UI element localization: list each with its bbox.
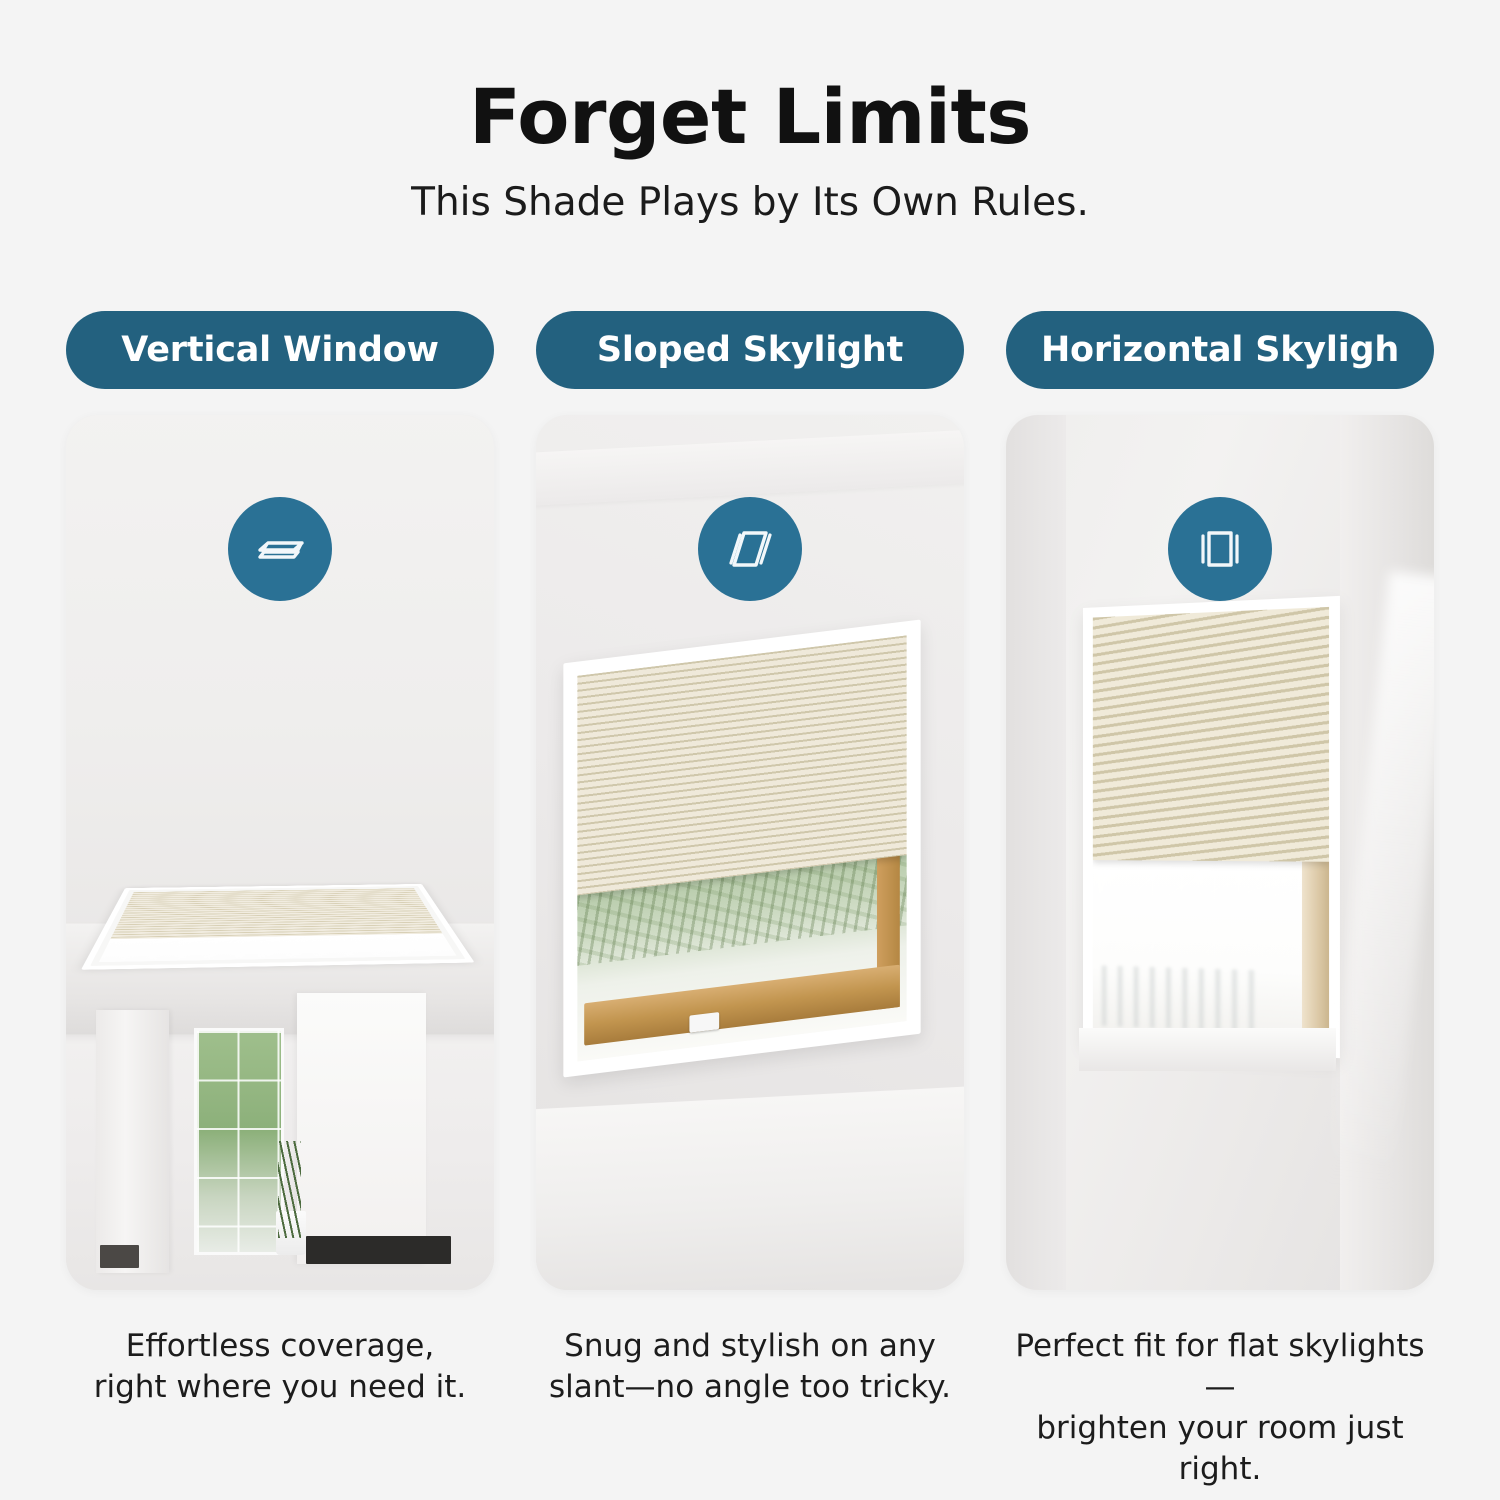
badge-sloped-skylight[interactable]: Sloped Skylight: [536, 311, 964, 389]
skylight-frame: [90, 886, 465, 966]
photo-card-sloped-skylight[interactable]: [536, 415, 964, 1290]
caption-line: Perfect fit for flat skylights—: [1005, 1326, 1435, 1408]
sloped-skylight-unit: [563, 619, 920, 1077]
feature-column-horizontal-skylight: Horizontal Skyligh: [1006, 311, 1434, 1490]
cellular-shade-fabric: [577, 635, 906, 895]
caption-line: Snug and stylish on any: [535, 1326, 965, 1367]
caption-line: brighten your room just right.: [1005, 1408, 1435, 1490]
window-unit: [1083, 595, 1340, 1057]
badge-label: Sloped Skylight: [597, 330, 903, 370]
window-glass: [1093, 860, 1329, 1046]
feature-column-sloped-skylight: Sloped Skylight: [536, 311, 964, 1490]
plant-leaves: [278, 1141, 302, 1237]
badge-vertical-window[interactable]: Vertical Window: [66, 311, 494, 389]
badge-horizontal-skylight[interactable]: Horizontal Skyligh: [1006, 311, 1434, 389]
caption-horizontal-skylight: Perfect fit for flat skylights— brighten…: [1005, 1326, 1435, 1490]
background-window: [194, 1028, 284, 1256]
photo-card-vertical-window[interactable]: [66, 415, 494, 1290]
left-wall: [1006, 415, 1066, 1290]
skylight-unit: [81, 884, 475, 970]
window-sill: [536, 1086, 964, 1290]
window-handle: [689, 1011, 719, 1032]
badge-label: Vertical Window: [121, 330, 438, 370]
dark-bench: [306, 1236, 452, 1264]
feature-columns: Vertical Window: [66, 311, 1434, 1490]
photo-card-horizontal-skylight[interactable]: [1006, 415, 1434, 1290]
page-subtitle: This Shade Plays by Its Own Rules.: [0, 182, 1500, 225]
feature-column-vertical-window: Vertical Window: [66, 311, 494, 1490]
page-title: Forget Limits: [0, 78, 1500, 156]
horizontal-skylight-shade-icon: [228, 497, 332, 601]
wood-jamb: [1302, 852, 1329, 1046]
cellular-shade-fabric: [1093, 606, 1329, 861]
floor-tray: [100, 1245, 139, 1268]
skylight-opening: [577, 635, 906, 1062]
marketing-feature-page: Forget Limits This Shade Plays by Its Ow…: [0, 0, 1500, 1500]
badge-label: Horizontal Skyligh: [1041, 330, 1399, 370]
caption-sloped-skylight: Snug and stylish on any slant—no angle t…: [535, 1326, 965, 1408]
cellular-shade-fabric: [111, 888, 443, 939]
window-opening: [1093, 606, 1329, 1046]
caption-line: slant—no angle too tricky.: [535, 1367, 965, 1408]
interior-column: [96, 1010, 169, 1273]
window-sill: [1079, 1028, 1336, 1072]
page-header: Forget Limits This Shade Plays by Its Ow…: [0, 78, 1500, 224]
caption-vertical-window: Effortless coverage, right where you nee…: [65, 1326, 495, 1408]
caption-line: Effortless coverage,: [65, 1326, 495, 1367]
sloped-skylight-shade-icon: [698, 497, 802, 601]
vertical-window-shade-icon: [1168, 497, 1272, 601]
skylight-glass: [99, 933, 456, 962]
interior-panel: [297, 993, 425, 1264]
caption-line: right where you need it.: [65, 1367, 495, 1408]
